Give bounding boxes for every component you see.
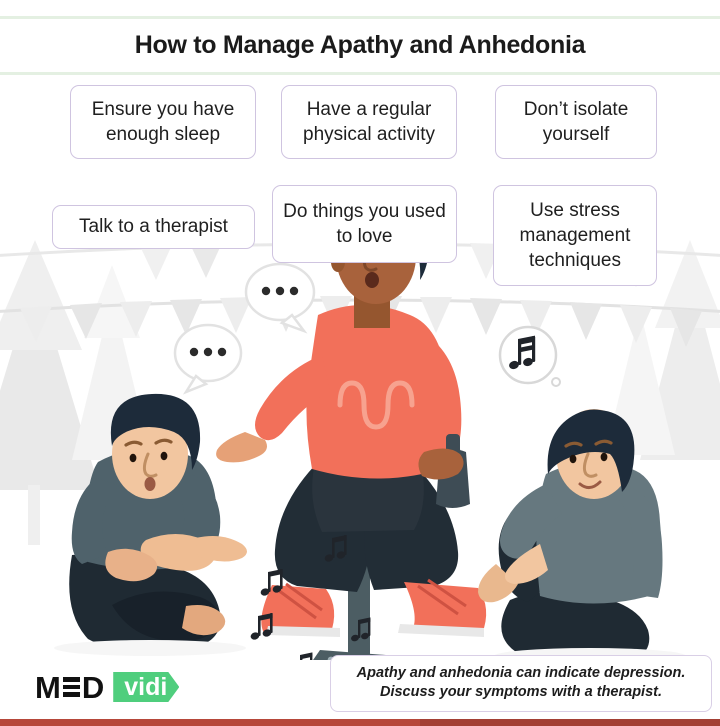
bottom-accent-bar: [0, 719, 720, 726]
tip-box-sleep[interactable]: Ensure you have enough sleep: [70, 85, 256, 159]
left-mouth: [145, 477, 156, 491]
medvidi-logo[interactable]: M D vidi: [35, 670, 179, 704]
tip-label: Don’t isolate yourself: [504, 97, 648, 147]
logo-letter-d: D: [82, 672, 104, 703]
tip-box-love[interactable]: Do things you used to love: [272, 185, 457, 263]
page-title: How to Manage Apathy and Anhedonia: [135, 31, 585, 60]
bottom-accent-bar-segment: [420, 719, 720, 726]
bubble-dot: [276, 287, 284, 295]
center-mouth: [365, 272, 379, 288]
tip-label: Do things you used to love: [281, 199, 448, 249]
tip-label: Ensure you have enough sleep: [79, 97, 247, 147]
bubble-dot: [262, 287, 270, 295]
right-eye-right: [601, 453, 608, 461]
caption-line-2: Discuss your symptoms with a therapist.: [341, 683, 701, 702]
logo-letter-e-bars: [63, 676, 80, 698]
right-eye-left: [570, 455, 577, 463]
logo-letter-m: M: [35, 672, 61, 703]
tip-box-isolate[interactable]: Don’t isolate yourself: [495, 85, 657, 159]
bubble-dot: [204, 348, 212, 356]
left-eye-left: [130, 454, 137, 462]
footer-caption: Apathy and anhedonia can indicate depres…: [330, 655, 712, 712]
logo-vidi-badge: vidi: [113, 672, 179, 702]
tip-label: Use stress management techniques: [502, 198, 648, 273]
caption-line-1: Apathy and anhedonia can indicate depres…: [341, 664, 701, 683]
infographic-root: How to Manage Apathy and Anhedonia Ensur…: [0, 0, 720, 726]
tip-label: Talk to a therapist: [79, 214, 228, 239]
left-eye-right: [161, 452, 168, 460]
tip-box-therapist[interactable]: Talk to a therapist: [52, 205, 255, 249]
bubble-dot: [290, 287, 298, 295]
tip-box-activity[interactable]: Have a regular physical activity: [281, 85, 457, 159]
tip-box-stress[interactable]: Use stress management techniques: [493, 185, 657, 286]
logo-med-wordmark: M D: [35, 672, 104, 703]
tip-label: Have a regular physical activity: [290, 97, 448, 147]
bubble-dot: [190, 348, 198, 356]
title-band: How to Manage Apathy and Anhedonia: [0, 16, 720, 75]
shadow-left: [54, 640, 246, 656]
bubble-dot: [218, 348, 226, 356]
logo-vidi-text: vidi: [124, 675, 167, 700]
